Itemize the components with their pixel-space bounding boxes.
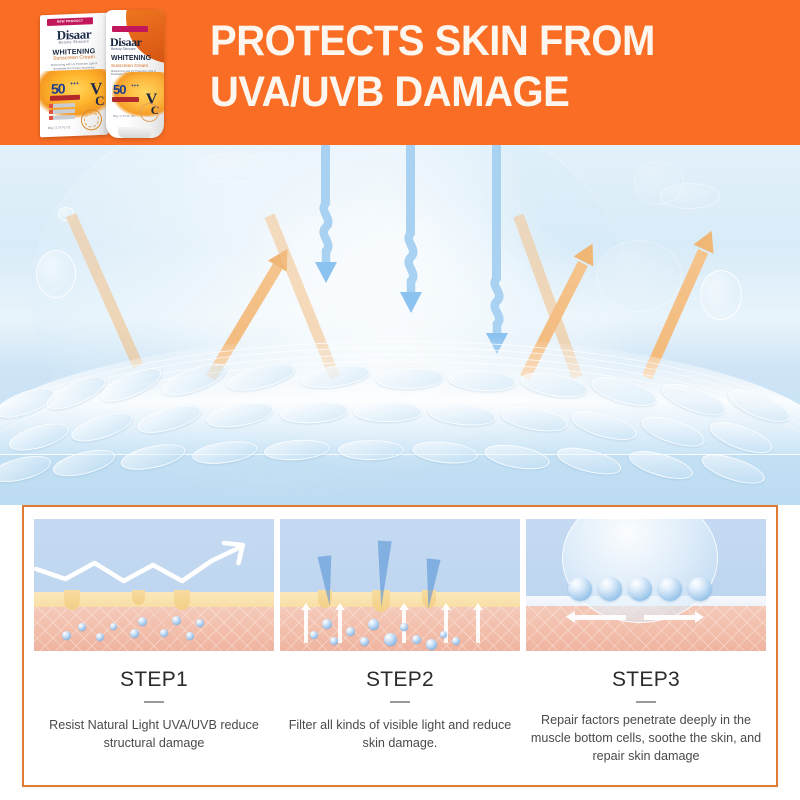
bubble-icon (196, 153, 266, 183)
moisture-droplet (412, 635, 421, 644)
repair-factor-sphere (688, 577, 712, 601)
bubble-icon (596, 240, 682, 312)
step-3-description: Repair factors penetrate deeply in the m… (530, 711, 763, 765)
headline: PROTECTS SKIN FROM UVA/UVB DAMAGE (210, 16, 749, 118)
step-2-description: Filter all kinds of visible light and re… (284, 716, 517, 752)
skin-cell (134, 399, 204, 438)
skin-cell (205, 398, 276, 431)
tube-spf-plus: +++ (131, 83, 139, 88)
step-2-title: STEP2 (366, 668, 434, 692)
carton-bullet-list (49, 103, 75, 122)
skin-cell (698, 448, 768, 489)
tube-new-tag (112, 26, 148, 32)
moisture-droplet (160, 629, 168, 637)
step-1-description: Resist Natural Light UVA/UVB reduce stru… (38, 716, 271, 752)
repair-factor-sphere (568, 577, 592, 601)
skin-cell (554, 442, 623, 479)
skin-cell (411, 439, 479, 467)
carton-product-subtitle: Sunscreen Cream (40, 54, 108, 63)
tube-brand-tagline: Beauty Skincare (111, 47, 136, 51)
uv-wave-icon (486, 278, 508, 336)
skin-cell (263, 438, 330, 463)
skin-cell (42, 370, 109, 416)
moisture-droplet (310, 631, 318, 639)
headline-line-1: PROTECTS SKIN FROM (210, 16, 749, 67)
skin-cell-field (0, 360, 800, 505)
step-1-illustration (34, 519, 274, 651)
moisture-droplet (130, 629, 139, 638)
bubble-icon (634, 161, 684, 205)
repair-factor-sphere (598, 577, 622, 601)
moisture-droplet (440, 631, 447, 638)
product-carton: NEW PRODUCT Disaar Beauty Skincare WHITE… (40, 13, 108, 138)
skin-cell (68, 407, 136, 448)
skin-cell (568, 405, 640, 446)
moisture-droplet (196, 619, 204, 627)
headline-line-2: UVA/UVB DAMAGE (210, 67, 749, 118)
repair-factor-sphere (628, 577, 652, 601)
spread-arrow-right-icon (644, 615, 696, 620)
skin-cell (191, 438, 259, 468)
skin-cell (626, 445, 696, 484)
skin-cell (354, 402, 422, 422)
moisture-droplet (78, 623, 86, 631)
step-1-title: STEP1 (120, 668, 188, 692)
skin-cell (447, 368, 516, 394)
moisture-droplet (322, 619, 332, 629)
skin-cell (499, 402, 570, 435)
step-3-illustration (526, 519, 766, 651)
carton-spf-value: 50 (51, 80, 65, 97)
product-tube: Disaar Beauty Skincare WHITENING Sunscre… (106, 10, 164, 138)
step-3-divider (636, 701, 656, 703)
tube-product-title: WHITENING (111, 55, 151, 62)
bubble-icon (36, 250, 76, 298)
carton-vc-logo: VC (90, 83, 103, 107)
uv-wave-icon (400, 233, 422, 295)
step-2-sky (280, 519, 520, 596)
moisture-droplet (110, 623, 117, 630)
tube-net-weight: 80g / 2.75 FL OZ (113, 114, 135, 118)
carton-spf-plus: +++ (70, 81, 79, 87)
header-banner: NEW PRODUCT Disaar Beauty Skincare WHITE… (0, 0, 800, 145)
repair-up-arrow-icon (476, 609, 480, 643)
skin-cell (638, 410, 708, 452)
step-2-divider (390, 701, 410, 703)
step-3-title: STEP3 (612, 668, 680, 692)
skin-cell (588, 371, 660, 412)
skin-cell (279, 400, 348, 426)
skin-cell (224, 360, 297, 396)
repair-up-arrow-icon (444, 609, 448, 643)
moisture-droplet (384, 633, 397, 646)
repair-up-arrow-icon (304, 609, 308, 643)
step-card-3: STEP3 Repair factors penetrate deeply in… (526, 519, 766, 777)
steps-row: STEP1 Resist Natural Light UVA/UVB reduc… (24, 507, 776, 785)
skin-cell (96, 362, 165, 409)
step-1-divider (144, 701, 164, 703)
repair-up-arrow-icon (338, 609, 342, 643)
carton-new-tag-label: NEW PRODUCT (47, 17, 93, 26)
carton-new-tag: NEW PRODUCT (47, 17, 93, 26)
carton-vc-c: C (95, 95, 103, 107)
skin-cell (50, 445, 117, 482)
skin-cell (483, 440, 552, 473)
skin-cell (376, 367, 445, 390)
skin-cell (658, 377, 730, 422)
skin-cell (158, 360, 230, 402)
moisture-droplet (138, 617, 147, 626)
uv-wave-icon (315, 203, 337, 265)
moisture-droplet (186, 632, 194, 640)
moisture-droplet (426, 639, 437, 650)
moisture-droplet (96, 633, 104, 641)
skin-cell (299, 361, 371, 392)
moisture-droplet (452, 637, 460, 645)
tube-cap (118, 127, 152, 138)
skin-cell (0, 451, 54, 487)
moisture-droplet (172, 616, 181, 625)
moisture-droplet (62, 631, 71, 640)
step-card-1: STEP1 Resist Natural Light UVA/UVB reduc… (34, 519, 274, 777)
moisture-droplet (346, 627, 355, 636)
step-card-2: STEP2 Filter all kinds of visible light … (280, 519, 520, 777)
steps-panel: STEP1 Resist Natural Light UVA/UVB reduc… (22, 505, 778, 787)
product-pack-group: NEW PRODUCT Disaar Beauty Skincare WHITE… (34, 6, 194, 139)
moisture-droplet (400, 623, 408, 631)
skin-cell (724, 382, 794, 428)
moisture-droplet (368, 619, 379, 630)
moisture-droplet (360, 637, 369, 646)
step-2-illustration (280, 519, 520, 651)
skin-cell (6, 418, 72, 456)
spread-arrow-left-icon (574, 615, 626, 620)
tube-product-subtitle: Sunscreen Cream (111, 63, 148, 68)
skin-cell (706, 415, 776, 459)
tube-broad-spectrum-bar (112, 97, 139, 102)
deflected-light-arrow-icon (34, 519, 274, 651)
skin-cell (338, 440, 404, 460)
skin-cell (118, 439, 187, 474)
uv-protection-illustration (0, 145, 800, 505)
bubble-icon (700, 270, 742, 320)
carton-net-weight: 80g / 2.75 FL OZ (48, 125, 71, 130)
repair-factor-sphere (658, 577, 682, 601)
tube-spf-value: 50 (113, 82, 125, 97)
skin-cell (427, 401, 497, 429)
moisture-droplet (330, 637, 338, 645)
skin-cell (519, 368, 590, 401)
